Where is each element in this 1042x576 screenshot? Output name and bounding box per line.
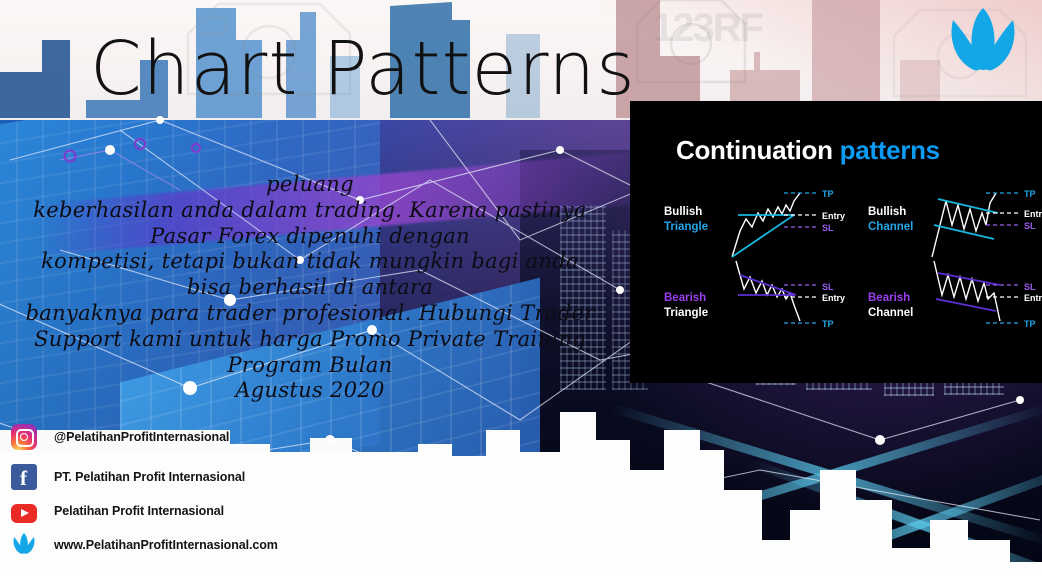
promo-line: kompetisi, tetapi bukan tidak mungkin ba…: [0, 249, 620, 275]
bearish-channel-mark-tp: TP: [1024, 319, 1036, 329]
bearish-triangle-mark-tp: TP: [822, 319, 834, 329]
facebook-icon[interactable]: f: [11, 464, 37, 490]
panel-title-accent: patterns: [840, 135, 940, 165]
promo-line: peluang: [0, 172, 620, 198]
bearish-triangle-chart: [722, 259, 822, 345]
social-row-instagram[interactable]: @PelatihanProfitInternasional: [11, 424, 229, 450]
panel-title-white: Continuation: [676, 135, 833, 165]
website-url: www.PelatihanProfitInternasional.com: [54, 538, 278, 552]
bullish-triangle-line1: Bullish: [664, 205, 702, 220]
bullish-channel-line1: Bullish: [868, 205, 906, 220]
bullish-triangle-chart: [722, 181, 822, 261]
promo-paragraph: peluang keberhasilan anda dalam trading.…: [0, 172, 620, 404]
bullish-channel-mark-entry: Entry: [1024, 209, 1042, 219]
social-row-youtube[interactable]: Pelatihan Profit Internasional: [11, 500, 224, 523]
bullish-triangle-line2: Triangle: [664, 220, 708, 235]
promo-line: Support kami untuk harga Promo Private T…: [0, 327, 620, 353]
bearish-channel-mark-entry: Entry: [1024, 293, 1042, 303]
bullish-triangle-mark-entry: Entry: [822, 211, 845, 221]
bullish-channel-mark-tp: TP: [1024, 189, 1036, 199]
continuation-patterns-panel: Continuation patterns Bullish Triangle T…: [630, 101, 1042, 383]
bearish-triangle-mark-entry: Entry: [822, 293, 845, 303]
bullish-triangle-mark-sl: SL: [822, 223, 834, 233]
youtube-icon[interactable]: [11, 504, 37, 523]
bearish-channel-chart: [924, 259, 1024, 345]
promo-line: Pasar Forex dipenuhi dengan: [0, 224, 620, 250]
bearish-channel-line1: Bearish: [868, 291, 910, 306]
bullish-channel-mark-sl: SL: [1024, 221, 1036, 231]
bullish-channel-line2: Channel: [868, 220, 913, 235]
promo-line: keberhasilan anda dalam trading. Karena …: [0, 198, 620, 224]
promo-line: Program Bulan: [0, 353, 620, 379]
panel-title: Continuation patterns: [676, 135, 940, 166]
youtube-channel-name: Pelatihan Profit Internasional: [54, 504, 224, 518]
bearish-triangle-mark-sl: SL: [822, 282, 834, 292]
bearish-triangle-line1: Bearish: [664, 291, 706, 306]
instagram-icon[interactable]: [11, 424, 37, 450]
social-row-website[interactable]: www.PelatihanProfitInternasional.com: [11, 532, 278, 558]
instagram-handle: @PelatihanProfitInternasional: [54, 430, 229, 444]
bearish-channel-line2: Channel: [868, 306, 913, 321]
promo-line: bisa berhasil di antara: [0, 275, 620, 301]
bearish-channel-mark-sl: SL: [1024, 282, 1036, 292]
bullish-channel-chart: [924, 181, 1024, 261]
page-title: Chart Patterns: [90, 32, 636, 106]
promo-line: banyaknya para trader profesional. Hubun…: [0, 301, 620, 327]
social-row-facebook[interactable]: f PT. Pelatihan Profit Internasional: [11, 464, 245, 490]
facebook-page-name: PT. Pelatihan Profit Internasional: [54, 470, 245, 484]
bullish-triangle-mark-tp: TP: [822, 189, 834, 199]
lotus-logo-icon: [944, 6, 1022, 87]
bearish-triangle-line2: Triangle: [664, 306, 708, 321]
promo-line: Agustus 2020: [0, 378, 620, 404]
lotus-icon[interactable]: [11, 532, 37, 558]
slide-canvas: 123RF: [0, 0, 1042, 576]
